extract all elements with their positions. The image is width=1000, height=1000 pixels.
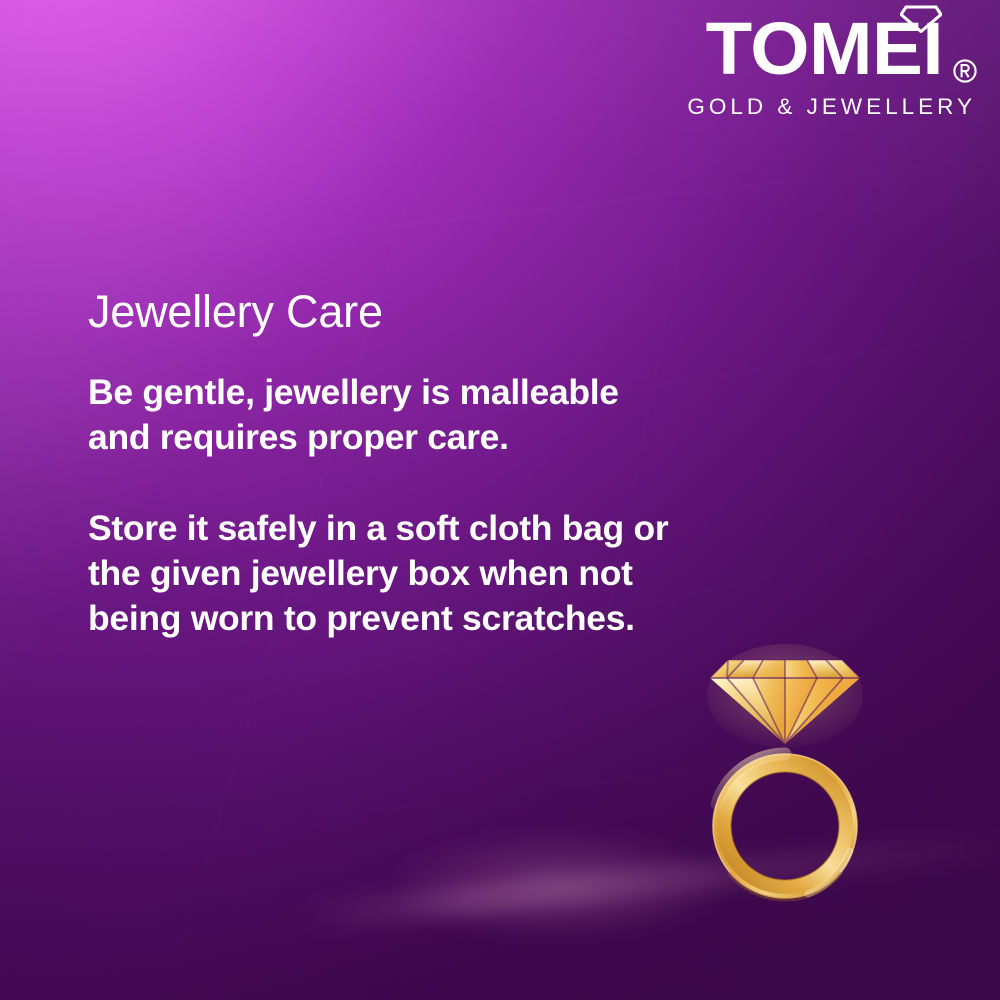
page-title: Jewellery Care (88, 286, 688, 338)
care-paragraph-1: Be gentle, jewellery is malleable and re… (88, 370, 688, 460)
care-copy-block: Jewellery Care Be gentle, jewellery is m… (88, 286, 688, 641)
logo-tagline: GOLD & JEWELLERY (648, 93, 978, 121)
ring-band-icon (713, 754, 857, 900)
care-paragraph-2: Store it safely in a soft cloth bag or t… (88, 506, 688, 641)
logo-wordmark-row: TOMEI (648, 8, 978, 90)
diamond-ring-illustration (700, 648, 890, 903)
registered-trademark-icon (952, 58, 978, 84)
diamond-outline-icon (900, 5, 942, 33)
brand-logo[interactable]: TOMEI GOLD & JEWELLERY (648, 8, 978, 121)
jewellery-care-poster: TOMEI GOLD & JEWELLERY Jewellery Care Be… (0, 0, 1000, 1000)
